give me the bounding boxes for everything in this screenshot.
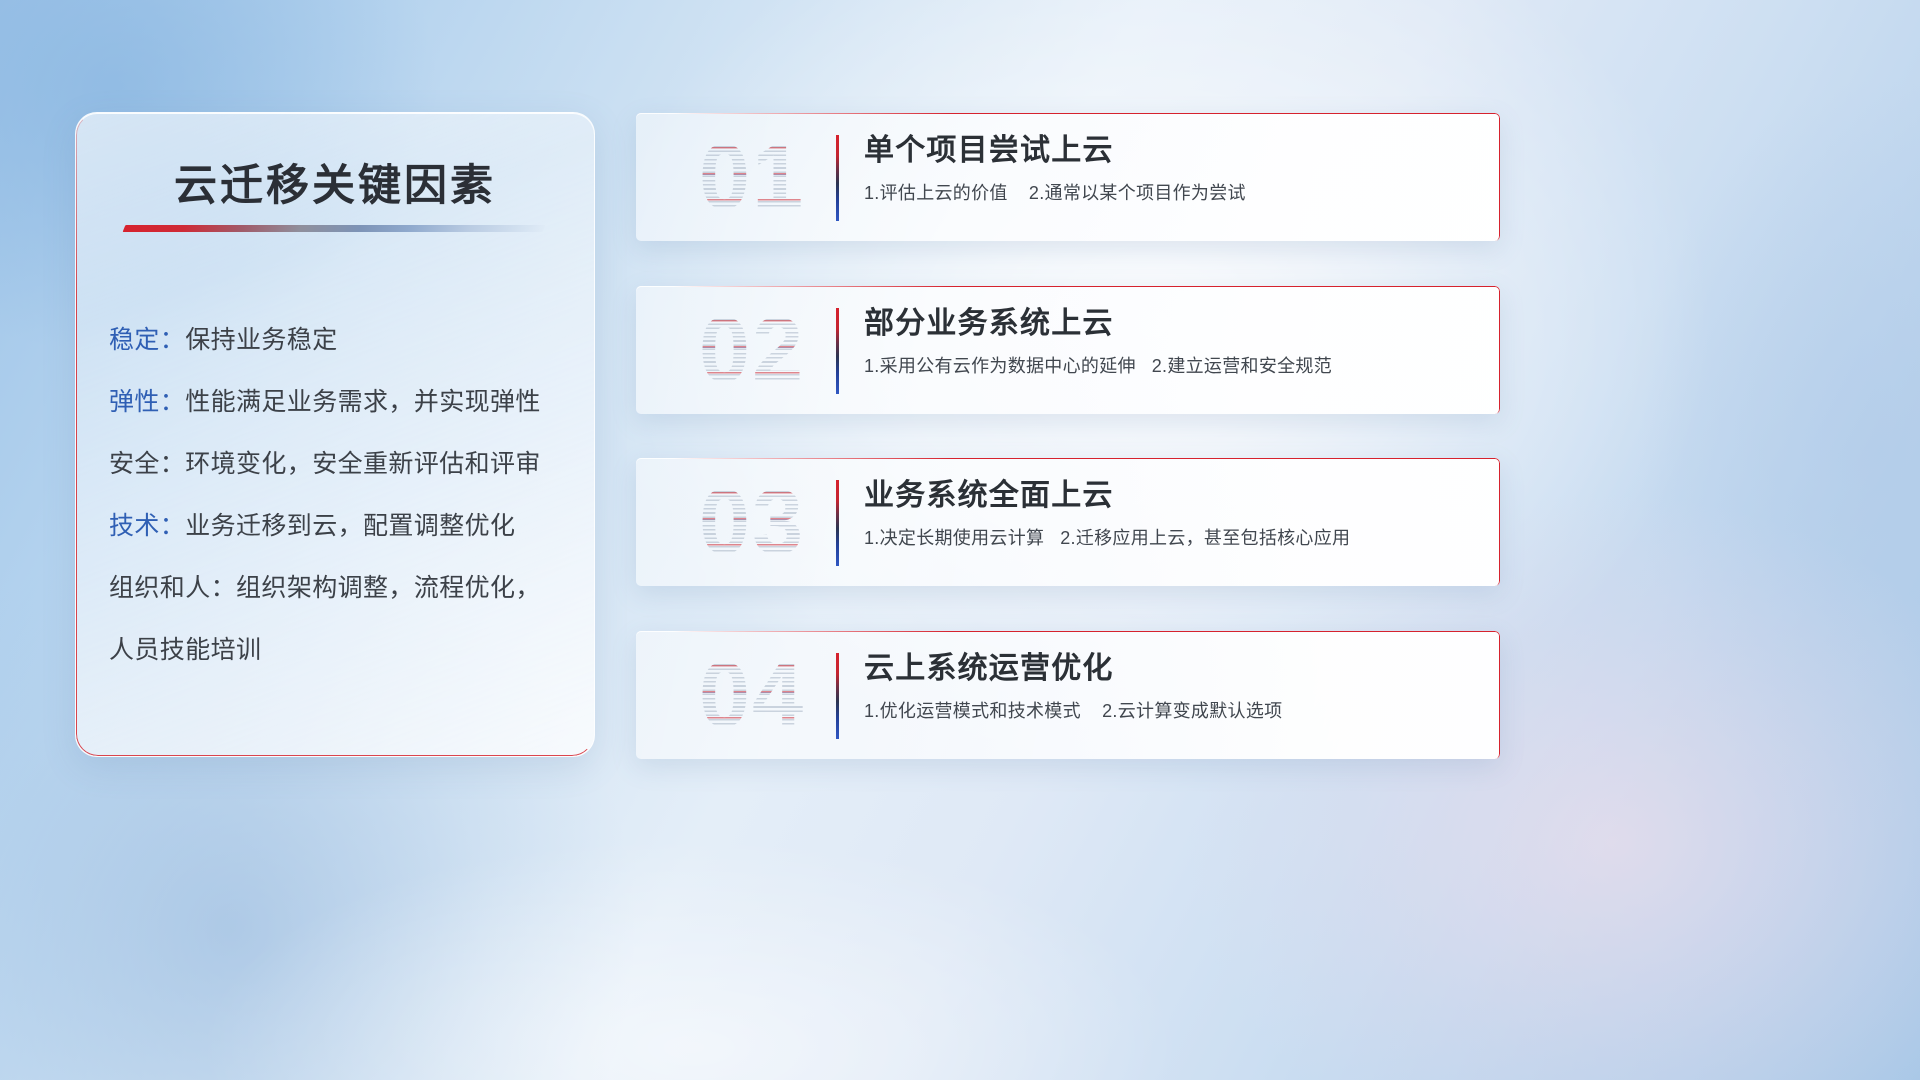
list-item-text: 业务迁移到云，配置调整优化: [185, 512, 515, 540]
slide-canvas: 云迁移关键因素 稳定：保持业务稳定 弹性：性能满足业务需求，并实现弹性 安全：环…: [0, 0, 1920, 1080]
list-item: 组织和人：组织架构调整，流程优化，: [109, 557, 572, 619]
step-card[interactable]: 02 02 部分业务系统上云 1.采用公有云作为数据中心的延伸 2.建立运营和安…: [636, 286, 1500, 414]
step-divider: [836, 135, 839, 221]
step-title: 业务系统全面上云: [864, 474, 1480, 518]
list-item-text: 组织架构调整，流程优化，: [236, 574, 541, 602]
step-subtitle: 1.优化运营模式和技术模式 2.云计算变成默认选项: [864, 697, 1480, 725]
step-divider: [836, 653, 839, 739]
step-text-block: 云上系统运营优化 1.优化运营模式和技术模式 2.云计算变成默认选项: [864, 647, 1480, 725]
step-card[interactable]: 03 03 业务系统全面上云 1.决定长期使用云计算 2.迁移应用上云，甚至包括…: [636, 458, 1500, 586]
list-item-label: 稳定：: [109, 326, 185, 354]
step-divider: [836, 480, 839, 566]
step-title: 云上系统运营优化: [864, 647, 1480, 691]
step-text-block: 单个项目尝试上云 1.评估上云的价值 2.通常以某个项目作为尝试: [864, 129, 1480, 207]
list-item-label: 组织和人：: [109, 574, 236, 602]
panel-title: 云迁移关键因素: [76, 151, 594, 213]
step-title: 部分业务系统上云: [864, 302, 1480, 346]
list-item-label: 安全：: [109, 450, 185, 478]
list-item: 人员技能培训: [109, 619, 572, 681]
step-number: 01: [662, 121, 842, 233]
list-item: 技术：业务迁移到云，配置调整优化: [109, 495, 572, 557]
step-card[interactable]: 04 04 云上系统运营优化 1.优化运营模式和技术模式 2.云计算变成默认选项: [636, 631, 1500, 759]
step-divider: [836, 308, 839, 394]
step-subtitle: 1.采用公有云作为数据中心的延伸 2.建立运营和安全规范: [864, 352, 1480, 380]
step-text-block: 业务系统全面上云 1.决定长期使用云计算 2.迁移应用上云，甚至包括核心应用: [864, 474, 1480, 552]
list-item: 弹性：性能满足业务需求，并实现弹性: [109, 371, 572, 433]
step-title: 单个项目尝试上云: [864, 129, 1480, 173]
list-item: 安全：环境变化，安全重新评估和评审: [109, 433, 572, 495]
list-item-label: 弹性：: [109, 388, 185, 416]
list-item-text: 人员技能培训: [109, 636, 261, 664]
step-text-block: 部分业务系统上云 1.采用公有云作为数据中心的延伸 2.建立运营和安全规范: [864, 302, 1480, 380]
list-item: 稳定：保持业务稳定: [109, 309, 572, 371]
step-number: 02: [662, 294, 842, 406]
list-item-text: 环境变化，安全重新评估和评审: [185, 450, 541, 478]
key-factors-list: 稳定：保持业务稳定 弹性：性能满足业务需求，并实现弹性 安全：环境变化，安全重新…: [109, 309, 572, 681]
step-subtitle: 1.决定长期使用云计算 2.迁移应用上云，甚至包括核心应用: [864, 524, 1480, 552]
panel-title-underline: [123, 225, 546, 232]
list-item-text: 保持业务稳定: [185, 326, 337, 354]
key-factors-panel: 云迁移关键因素 稳定：保持业务稳定 弹性：性能满足业务需求，并实现弹性 安全：环…: [75, 112, 595, 757]
step-subtitle: 1.评估上云的价值 2.通常以某个项目作为尝试: [864, 179, 1480, 207]
step-number: 03: [662, 466, 842, 578]
step-card[interactable]: 01 01 单个项目尝试上云 1.评估上云的价值 2.通常以某个项目作为尝试: [636, 113, 1500, 241]
list-item-label: 技术：: [109, 512, 185, 540]
step-number: 04: [662, 639, 842, 751]
list-item-text: 性能满足业务需求，并实现弹性: [185, 388, 541, 416]
